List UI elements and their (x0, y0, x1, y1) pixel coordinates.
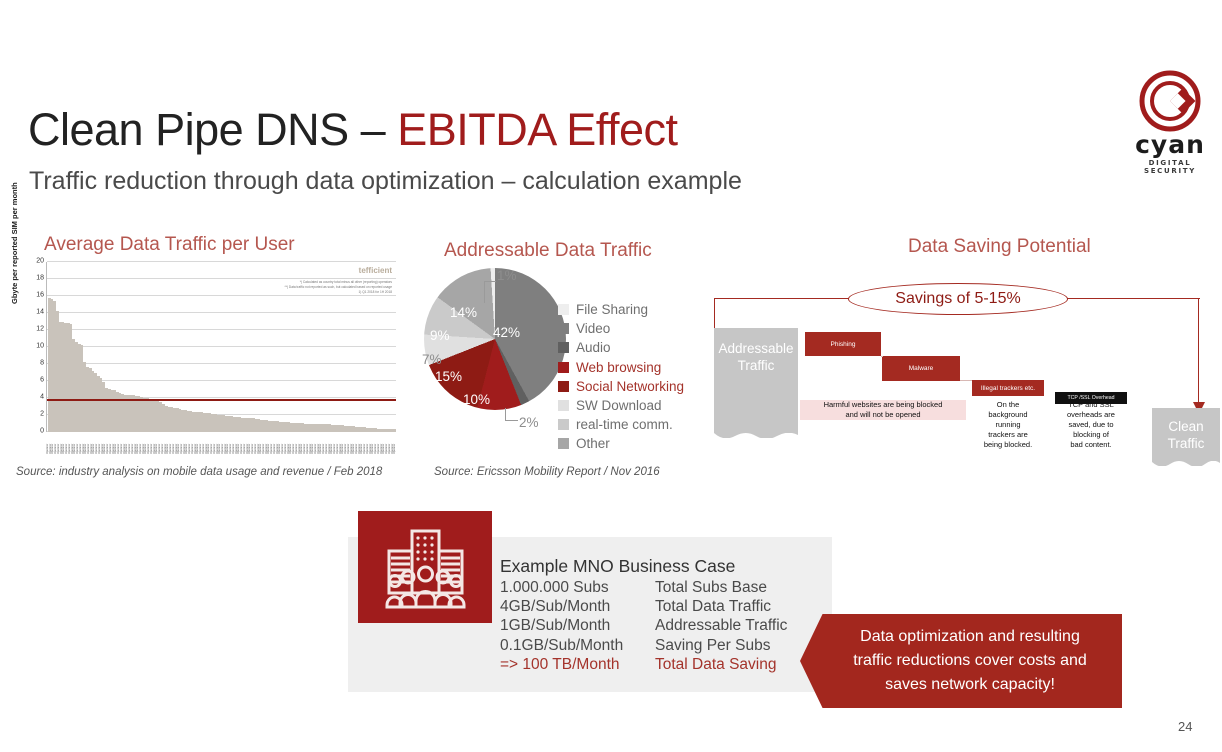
callout-line-1: Data optimization and resulting (853, 625, 1087, 649)
pie-legend-item[interactable]: SW Download (558, 396, 698, 415)
addressable-traffic-line1: Addressable (714, 340, 798, 357)
business-case-heading: Example MNO Business Case (500, 556, 787, 577)
business-case-rows: 1.000.000 SubsTotal Subs Base4GB/Sub/Mon… (500, 578, 787, 674)
torn-edge-icon (714, 433, 798, 443)
bar-chart-footnotes: *) Calculated as country total minus all… (285, 280, 393, 295)
bar-chart-y-tick: 20 (36, 258, 44, 265)
bar-chart-y-tick: 16 (36, 292, 44, 299)
pie-legend-item[interactable]: Other (558, 434, 698, 453)
business-case-icon-tile (358, 511, 492, 623)
average-data-traffic-bar-chart: Gbyte per reported SIM per month 0246810… (24, 258, 396, 454)
savings-label: Savings of 5-15% (895, 290, 1020, 308)
bar-chart-y-tick: 0 (40, 428, 44, 435)
pie-label-other: 14% (450, 305, 477, 320)
bar-chart-y-tick: 4 (40, 394, 44, 401)
waterfall-note-harmful-websites: Harmful websites are being blocked and w… (800, 400, 966, 420)
waterfall-note-trackers: On the background running trackers are b… (968, 400, 1048, 450)
pie-label-web-browsing: 10% (463, 392, 490, 407)
callout-line-2: traffic reductions cover costs and (853, 649, 1087, 673)
business-case-text: Example MNO Business Case 1.000.000 Subs… (500, 556, 787, 674)
pie-legend-item[interactable]: Web browsing (558, 358, 698, 377)
business-case-value: 4GB/Sub/Month (500, 597, 655, 616)
buildings-people-icon (358, 511, 492, 623)
bar-chart-x-tick: Operator (393, 432, 396, 454)
savings-ellipse: Savings of 5-15% (848, 283, 1068, 315)
callout-line-3: saves network capacity! (853, 673, 1087, 697)
bar-chart-x-axis: OperatorOperatorOperatorOperatorOperator… (46, 432, 396, 454)
bar-chart-y-tick: 2 (40, 411, 44, 418)
bar-chart-y-tick: 8 (40, 360, 44, 367)
bar-chart-y-axis-label: Gbyte per reported SIM per month (10, 182, 19, 304)
pie-legend-label: Video (576, 321, 610, 336)
clean-traffic-line1: Clean (1152, 418, 1220, 435)
middle-panel-source: Source: Ericsson Mobility Report / Nov 2… (434, 466, 660, 478)
step-label-phishing: Phishing (831, 341, 856, 348)
business-case-row: 1GB/Sub/MonthAddressable Traffic (500, 616, 787, 635)
clean-traffic-line2: Traffic (1152, 435, 1220, 452)
bar-chart-x-tick-labels: OperatorOperatorOperatorOperatorOperator… (46, 432, 396, 454)
waterfall-connector-top-left (714, 298, 854, 299)
pie-legend-label: Other (576, 436, 610, 451)
torn-edge-icon-2 (1152, 461, 1220, 471)
cyan-logo: cyan DIGITAL SECURITY (1124, 70, 1216, 168)
business-case-label: Total Subs Base (655, 578, 767, 597)
clean-traffic-block: Clean Traffic (1152, 408, 1220, 466)
middle-panel-title: Addressable Data Traffic (444, 240, 652, 262)
pie-legend-item[interactable]: Audio (558, 338, 698, 357)
bar-chart-y-tick: 14 (36, 309, 44, 316)
step-connector-1 (881, 356, 883, 357)
pie-legend-swatch (558, 342, 569, 353)
pie-leader-audio (505, 420, 518, 421)
page-title-accent: EBITDA Effect (397, 104, 677, 155)
pie-legend-swatch (558, 381, 569, 392)
addressable-traffic-line2: Traffic (714, 357, 798, 374)
pie-label-sw-download: 7% (422, 352, 442, 367)
page-subtitle: Traffic reduction through data optimizat… (29, 167, 742, 196)
pie-legend-label: File Sharing (576, 302, 648, 317)
cyan-logo-wordmark: cyan (1124, 134, 1216, 156)
cyan-logo-mark-icon (1139, 70, 1201, 132)
bar-chart-watermark: tefficient (359, 266, 392, 275)
business-case-value: 1.000.000 Subs (500, 578, 655, 597)
waterfall-note-tcp-ssl: TCP and SSL overheads are saved, due to … (1052, 400, 1130, 450)
business-case-row: 0.1GB/Sub/MonthSaving Per Subs (500, 636, 787, 655)
pie-label-video: 42% (493, 325, 520, 340)
business-case-label: Total Data Traffic (655, 597, 771, 616)
page-title-main: Clean Pipe DNS – (28, 104, 397, 155)
bar-chart-plot-area: 02468101214161820 tefficient *) Calculat… (46, 262, 396, 432)
business-case-row: 1.000.000 SubsTotal Subs Base (500, 578, 787, 597)
pie-legend-item[interactable]: File Sharing (558, 300, 698, 319)
waterfall-connector-left-vertical (714, 298, 715, 332)
business-case-label: Saving Per Subs (655, 636, 770, 655)
step-box-malware: Malware (882, 356, 960, 381)
pie-legend: File SharingVideoAudioWeb browsingSocial… (558, 300, 698, 454)
pie-legend-label: real-time comm. (576, 417, 673, 432)
step-box-illegal-trackers: Illegal trackers etc. (972, 380, 1044, 396)
callout-banner: Data optimization and resulting traffic … (800, 614, 1122, 708)
page-title: Clean Pipe DNS – EBITDA Effect (28, 104, 678, 156)
business-case-row: 4GB/Sub/MonthTotal Data Traffic (500, 597, 787, 616)
bar-chart-y-tick: 12 (36, 326, 44, 333)
waterfall-connector-right-vertical (1198, 298, 1199, 406)
addressable-traffic-block: Addressable Traffic (714, 328, 798, 438)
pie-legend-swatch (558, 400, 569, 411)
bar-chart-footnote: 1) Q1 2018 for 1H 2018 (285, 290, 393, 295)
waterfall-note-1-line1: Harmful websites are being blocked (800, 400, 966, 410)
bar-chart-reference-line (47, 399, 396, 402)
waterfall-connector-top-right (1060, 298, 1200, 299)
right-panel-title: Data Saving Potential (908, 236, 1091, 258)
pie-legend-item[interactable]: Social Networking (558, 377, 698, 396)
business-case-value: => 100 TB/Month (500, 655, 655, 674)
left-panel-title: Average Data Traffic per User (44, 234, 295, 256)
pie-legend-label: Audio (576, 340, 611, 355)
pie-legend-item[interactable]: real-time comm. (558, 415, 698, 434)
pie-legend-swatch (558, 438, 569, 449)
page-number: 24 (1178, 719, 1192, 734)
data-saving-waterfall-diagram: Savings of 5-15% Addressable Traffic Phi… (700, 280, 1210, 465)
pie-legend-label: Web browsing (576, 360, 661, 375)
waterfall-note-1-line2: and will not be opened (800, 410, 966, 420)
step-label-illegal-trackers: Illegal trackers etc. (981, 385, 1035, 392)
business-case-value: 0.1GB/Sub/Month (500, 636, 655, 655)
bar-chart-y-tick: 6 (40, 377, 44, 384)
pie-label-audio: 2% (519, 415, 539, 430)
pie-leader-audio-2 (505, 408, 506, 421)
pie-leader-file-sharing (484, 281, 485, 303)
pie-leader-file-sharing-2 (484, 281, 496, 282)
pie-legend-swatch (558, 323, 569, 334)
pie-legend-item[interactable]: Video (558, 319, 698, 338)
business-case-value: 1GB/Sub/Month (500, 616, 655, 635)
pie-label-file-sharing: 1% (497, 268, 517, 283)
pie-legend-label: Social Networking (576, 379, 684, 394)
business-case-row: => 100 TB/MonthTotal Data Saving (500, 655, 787, 674)
bar-chart-y-tick: 10 (36, 343, 44, 350)
cyan-logo-tagline: DIGITAL SECURITY (1124, 159, 1216, 175)
pie-legend-swatch (558, 419, 569, 430)
business-case-label: Total Data Saving (655, 655, 777, 674)
pie-legend-swatch (558, 304, 569, 315)
step-box-phishing: Phishing (805, 332, 881, 356)
pie-label-real-time-comm: 9% (430, 328, 450, 343)
bar-chart-y-tick: 18 (36, 275, 44, 282)
business-case-label: Addressable Traffic (655, 616, 787, 635)
step-connector-2 (960, 380, 972, 381)
left-panel-source: Source: industry analysis on mobile data… (16, 466, 382, 478)
pie-label-social-networking: 15% (435, 369, 462, 384)
pie-legend-swatch (558, 362, 569, 373)
step-label-malware: Malware (909, 365, 934, 372)
pie-legend-label: SW Download (576, 398, 662, 413)
